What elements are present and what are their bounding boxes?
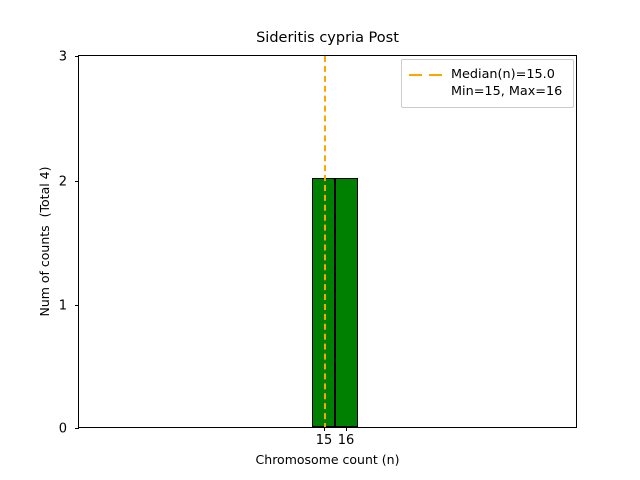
- ytick-label-3: 3: [59, 50, 67, 65]
- y-axis-label: Num of counts (Total 4): [37, 55, 52, 428]
- ytick-label-0: 0: [59, 422, 67, 437]
- x-axis-label: Chromosome count (n): [78, 452, 577, 467]
- chart-title: Sideritis cypria Post: [78, 29, 577, 47]
- plot-area: 0 1 2 3 15 16 Median(n)=15.0 Min=15, Max…: [78, 55, 577, 428]
- chart-figure: Sideritis cypria Post 0 1 2 3 15 16: [0, 0, 640, 480]
- plot-inner: [79, 56, 576, 427]
- xtick-label-15: 15: [316, 433, 333, 448]
- legend-line-2: Min=15, Max=16: [451, 84, 562, 99]
- xtick-label-16: 16: [338, 433, 355, 448]
- ytick-3: 3: [75, 56, 79, 57]
- ytick-2: 2: [75, 181, 79, 182]
- legend-entry-text: Median(n)=15.0 Min=15, Max=16: [451, 66, 562, 100]
- legend[interactable]: Median(n)=15.0 Min=15, Max=16: [401, 59, 574, 108]
- legend-line-1: Median(n)=15.0: [451, 67, 555, 82]
- median-line: [324, 56, 326, 427]
- ytick-1: 1: [75, 305, 79, 306]
- legend-entry-median: Median(n)=15.0 Min=15, Max=16: [409, 66, 566, 100]
- ytick-0: 0: [75, 428, 79, 429]
- bar-16[interactable]: [335, 178, 358, 427]
- ytick-label-2: 2: [59, 175, 67, 190]
- ytick-label-1: 1: [59, 298, 67, 313]
- xtick-15: [324, 427, 325, 431]
- dashed-line-icon: [409, 69, 443, 82]
- xtick-16: [346, 427, 347, 431]
